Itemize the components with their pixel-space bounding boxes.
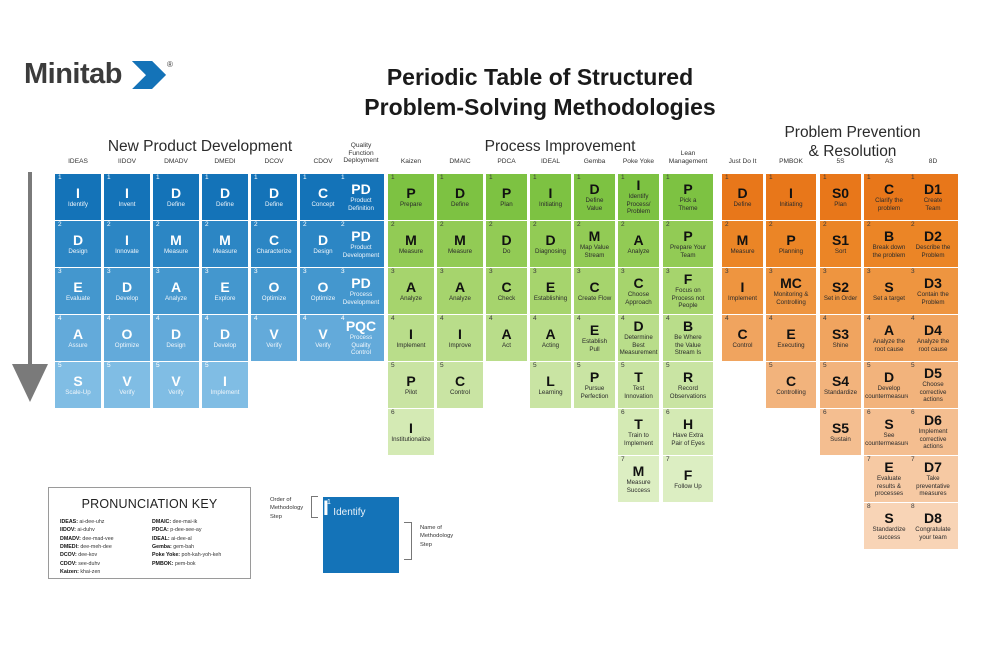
page-title-line2: Problem-Solving Methodologies [250, 92, 830, 122]
cell-symbol: I [458, 327, 462, 341]
pronunciation-entry-right-4: Poke Yoke: poh-kah-yoh-keh [152, 551, 244, 559]
cell-DMEDI-2[interactable]: 2MMeasure [202, 221, 248, 267]
cell-step-name: Initiating [539, 201, 562, 209]
cell-DMAIC-3[interactable]: 3AAnalyze [437, 268, 483, 314]
cell-8D-3[interactable]: 3D3Contain theProblem [908, 268, 958, 314]
cell-step-name: Define [265, 201, 283, 209]
cell-8D-8[interactable]: 8D8Congratulateyour team [908, 503, 958, 549]
cell-step-name: Analyze [165, 295, 187, 303]
cell-step-name: DetermineBestMeasurement [620, 334, 658, 357]
cell-step-name: Implement [728, 295, 757, 303]
cell-symbol: E [73, 280, 82, 294]
cell-PDCA-4[interactable]: 4AAct [486, 315, 527, 361]
cell-DCOV-4[interactable]: 4VVerify [251, 315, 297, 361]
cell-step-name: Contain theProblem [917, 291, 949, 306]
cell-DMAIC-1[interactable]: 1DDefine [437, 174, 483, 220]
cell-PMBOK-2[interactable]: 2PPlanning [766, 221, 816, 267]
cell-symbol: D [501, 233, 511, 247]
cell-step-name: Shine [833, 342, 849, 350]
cell-IDEAL-2[interactable]: 2DDiagnosing [530, 221, 571, 267]
cell-IDEAS-4[interactable]: 4AAssure [55, 315, 101, 361]
cell-symbol: M [633, 464, 645, 478]
cell-DMADV-2[interactable]: 2MMeasure [153, 221, 199, 267]
cell-step-name: Initiating [779, 201, 802, 209]
minitab-logo: Minitab ® [24, 58, 173, 91]
cell-PokeYoke-4[interactable]: 4DDetermineBestMeasurement [618, 315, 659, 361]
cell-symbol: D [73, 233, 83, 247]
cell-step-name: Explore [215, 295, 236, 303]
pronunciation-entry-right-5: PMBOK: pem-bok [152, 560, 244, 568]
cell-JustDoIt-3[interactable]: 3IImplement [722, 268, 763, 314]
cell-symbol: E [220, 280, 229, 294]
cell-symbol: P [502, 186, 511, 200]
cell-step-name: Establishing [534, 295, 567, 303]
cell-Kaizen-1[interactable]: 1PPrepare [388, 174, 434, 220]
cell-step-name: Design [313, 248, 332, 256]
cell-symbol: M [219, 233, 231, 247]
cell-step-name: Set a target [873, 295, 905, 303]
column-label-line: 8D [900, 158, 966, 166]
pronunciation-term: Poke Yoke: [152, 552, 180, 558]
cell-LeanManagement-6[interactable]: 6HHave ExtraPair of Eyes [663, 409, 713, 455]
cell-LeanManagement-3[interactable]: 3FFocus onProcess notPeople [663, 268, 713, 314]
cell-symbol: PD [351, 182, 370, 196]
cell-symbol: E [884, 460, 893, 474]
cell-symbol: M [589, 229, 601, 243]
cell-step-name: Focus onProcess notPeople [672, 287, 705, 310]
legend-cell-number: 1 [327, 499, 331, 506]
column-label-line: Lean [655, 150, 721, 158]
pronunciation-term: IDEAS: [60, 519, 78, 525]
cell-Kaizen-5[interactable]: 5PPilot [388, 362, 434, 408]
pronunciation-key-panel: PRONUNCIATION KEY IDEAS: ai-dee-uhzIIDOV… [48, 487, 251, 579]
cell-symbol: I [409, 327, 413, 341]
cell-Kaizen-6[interactable]: 6IInstitutionalize [388, 409, 434, 455]
cell-symbol: S [73, 374, 82, 388]
cell-symbol: F [684, 468, 693, 482]
brand-name: Minitab [24, 58, 122, 91]
cell-symbol: PQC [346, 319, 376, 333]
cell-8D-5[interactable]: 5D5Choosecorrective actions [908, 362, 958, 408]
cell-step-name: Improve [449, 342, 471, 350]
cell-PokeYoke-7[interactable]: 7MMeasureSuccess [618, 456, 659, 502]
cell-symbol: M [170, 233, 182, 247]
cell-DCOV-1[interactable]: 1DDefine [251, 174, 297, 220]
pronunciation-entry-right-1: PDCA: p-dee-see-ay [152, 526, 244, 534]
cell-symbol: D4 [924, 323, 942, 337]
cell-step-name: CreateTeam [924, 197, 943, 212]
cell-step-name: Measure [448, 248, 472, 256]
pronunciation-term: DMEDI: [60, 544, 79, 550]
cell-step-name: Develop [116, 295, 139, 303]
cell-DCOV-3[interactable]: 3OOptimize [251, 268, 297, 314]
cell-step-name: Break downthe problem [873, 244, 906, 259]
cell-symbol: PD [351, 229, 370, 243]
cell-A3-2[interactable]: 2BBreak downthe problem [864, 221, 914, 267]
cell-step-name: Verify [119, 389, 134, 397]
cell-LeanManagement-1[interactable]: 1PPick aTheme [663, 174, 713, 220]
cell-PDCA-2[interactable]: 2DDo [486, 221, 527, 267]
cell-A3-8[interactable]: 8SStandardizesuccess [864, 503, 914, 549]
cell-8D-6[interactable]: 6D6Implementcorrective actions [908, 409, 958, 455]
cell-step-name: Controlling [776, 389, 806, 397]
cell-symbol: S [884, 280, 893, 294]
cell-PMBOK-4[interactable]: 4EExecuting [766, 315, 816, 361]
cell-step-name: Develop [214, 342, 237, 350]
cell-step-name: Verify [266, 342, 281, 350]
cell-DMEDI-5[interactable]: 5IImplement [202, 362, 248, 408]
cell-5S-2[interactable]: 2S1Sort [820, 221, 861, 267]
cell-DMADV-3[interactable]: 3AAnalyze [153, 268, 199, 314]
cell-symbol: C [318, 186, 328, 200]
cell-symbol: PD [351, 276, 370, 290]
cell-DMEDI-4[interactable]: 4DDevelop [202, 315, 248, 361]
pronunciation-entry-right-2: IDEAL: ai-dee-al [152, 535, 244, 543]
pronunciation-entry-right-0: DMAIC: dee-mai-ik [152, 518, 244, 526]
cell-IDEAS-3[interactable]: 3EEvaluate [55, 268, 101, 314]
cell-symbol: V [269, 327, 278, 341]
pronunciation-term: PMBOK: [152, 561, 173, 567]
cell-IDEAL-3[interactable]: 3EEstablishing [530, 268, 571, 314]
cell-step-name: Choosecorrective actions [910, 381, 956, 404]
cell-PokeYoke-6[interactable]: 6TTrain toImplement [618, 409, 659, 455]
pronunciation-entry-left-6: Kaizen: khai-zen [60, 568, 152, 576]
cell-PMBOK-1[interactable]: 1IInitiating [766, 174, 816, 220]
cell-JustDoIt-4[interactable]: 4CControl [722, 315, 763, 361]
cell-Kaizen-2[interactable]: 2MMeasure [388, 221, 434, 267]
cell-8D-1[interactable]: 1D1CreateTeam [908, 174, 958, 220]
cell-step-name: Control [450, 389, 470, 397]
cell-DMEDI-1[interactable]: 1DDefine [202, 174, 248, 220]
cell-Gemba-2[interactable]: 2MMap ValueStream [574, 221, 615, 267]
section-header-npd: New Product Development [40, 137, 360, 156]
cell-step-name: Analyze theroot cause [917, 338, 949, 353]
cell-DMADV-1[interactable]: 1DDefine [153, 174, 199, 220]
cell-step-name: Standardizesuccess [872, 526, 905, 541]
periodic-table-poster: Minitab ® Periodic Table of Structured P… [0, 0, 985, 656]
cell-symbol: A [633, 233, 643, 247]
cell-step-name: Seecountermeasures [865, 432, 913, 447]
cell-step-name: IdentifyProcess/Problem [626, 193, 650, 216]
cell-step-name: Check [498, 295, 516, 303]
cell-symbol: B [683, 319, 693, 333]
cell-step-name: Do [503, 248, 511, 256]
legend-left-bracket [311, 496, 318, 518]
cell-symbol: C [737, 327, 747, 341]
cell-IIDOV-1[interactable]: 1IInvent [104, 174, 150, 220]
cell-symbol: T [634, 417, 643, 431]
cell-5S-5[interactable]: 5S4Standardize [820, 362, 861, 408]
cell-step-name: Follow Up [674, 483, 702, 491]
cell-JustDoIt-1[interactable]: 1DDefine [722, 174, 763, 220]
cell-step-name: Sort [835, 248, 846, 256]
cell-IDEAS-5[interactable]: 5SScale-Up [55, 362, 101, 408]
cell-step-name: Map ValueStream [580, 244, 609, 259]
cell-symbol: B [884, 229, 894, 243]
cell-symbol: D [122, 280, 132, 294]
cell-A3-3[interactable]: 3SSet a target [864, 268, 914, 314]
cell-symbol: D2 [924, 229, 942, 243]
cell-QFD-4[interactable]: 4PQCProcessQualityControl [338, 315, 384, 361]
pronunciation-term: DMAIC: [152, 519, 171, 525]
pronunciation-term: IDEAL: [152, 536, 170, 542]
cell-step-name: ProductDefinition [348, 197, 374, 212]
cell-symbol: L [546, 374, 555, 388]
pronunciation-entry-left-2: DMADV: dee-mad-vee [60, 535, 152, 543]
cell-step-name: RecordObservations [670, 385, 706, 400]
cell-symbol: MC [780, 276, 802, 290]
cell-LeanManagement-4[interactable]: 4BBe Wherethe ValueStream Is [663, 315, 713, 361]
cell-IDEAS-1[interactable]: 1IIdentify [55, 174, 101, 220]
cell-Kaizen-4[interactable]: 4IImplement [388, 315, 434, 361]
cell-step-name: ProcessQualityControl [350, 334, 372, 357]
cell-step-name: Define [451, 201, 469, 209]
cell-step-name: Optimize [311, 295, 335, 303]
cell-step-name: Measure [213, 248, 237, 256]
cell-step-name: Verify [168, 389, 183, 397]
cell-PokeYoke-5[interactable]: 5TTestInnovation [618, 362, 659, 408]
cell-IDEAL-4[interactable]: 4AActing [530, 315, 571, 361]
cell-step-name: Scale-Up [65, 389, 90, 397]
cell-symbol: A [406, 280, 416, 294]
cell-PMBOK-3[interactable]: 3MCMonitoring &Controlling [766, 268, 816, 314]
cell-step-name: Learning [538, 389, 562, 397]
cell-symbol: A [171, 280, 181, 294]
cell-step-name: Verify [315, 342, 330, 350]
pronunciation-entry-left-1: IIDOV: ai-duhv [60, 526, 152, 534]
cell-symbol: O [318, 280, 329, 294]
cell-PokeYoke-1[interactable]: 1IIdentifyProcess/Problem [618, 174, 659, 220]
cell-A3-1[interactable]: 1CClarify theproblem [864, 174, 914, 220]
cell-PDCA-3[interactable]: 3CCheck [486, 268, 527, 314]
pronunciation-term: IIDOV: [60, 527, 76, 533]
cell-PDCA-1[interactable]: 1PPlan [486, 174, 527, 220]
cell-step-name: Establish Pull [576, 338, 613, 353]
cell-step-name: Analyze theroot cause [873, 338, 905, 353]
cell-symbol: I [409, 421, 413, 435]
cell-step-name: Institutionalize [391, 436, 430, 444]
cell-LeanManagement-2[interactable]: 2PPrepare YourTeam [663, 221, 713, 267]
cell-IIDOV-2[interactable]: 2IInnovate [104, 221, 150, 267]
cell-symbol: D [455, 186, 465, 200]
cell-symbol: A [501, 327, 511, 341]
pronunciation-term: DMADV: [60, 536, 81, 542]
cell-symbol: F [684, 272, 693, 286]
column-label-LeanManagement: LeanManagement [655, 150, 721, 165]
cell-QFD-1[interactable]: 1PDProductDefinition [338, 174, 384, 220]
cell-symbol: R [683, 370, 693, 384]
cell-Gemba-4[interactable]: 4EEstablish Pull [574, 315, 615, 361]
cell-step-name: Be Wherethe ValueStream Is [674, 334, 702, 357]
cell-step-name: Define [216, 201, 234, 209]
cell-5S-3[interactable]: 3S2Set in Order [820, 268, 861, 314]
cell-step-name: Set in Order [824, 295, 857, 303]
cell-symbol: V [171, 374, 180, 388]
cell-step-name: Design [166, 342, 185, 350]
cell-step-name: Analyze [627, 248, 649, 256]
cell-symbol: S4 [832, 374, 849, 388]
cell-symbol: I [125, 233, 129, 247]
cell-symbol: D [633, 319, 643, 333]
cell-QFD-3[interactable]: 3PDProcessDevelopment [338, 268, 384, 314]
cell-symbol: I [549, 186, 553, 200]
cell-step-name: Define [167, 201, 185, 209]
cell-step-name: DefineValue [586, 197, 604, 212]
cell-step-name: Describe theProblem [916, 244, 951, 259]
cell-step-name: Analyze [449, 295, 471, 303]
cell-step-name: Implement [397, 342, 426, 350]
cell-symbol: D [171, 327, 181, 341]
cell-symbol: I [741, 280, 745, 294]
cell-IIDOV-3[interactable]: 3DDevelop [104, 268, 150, 314]
cell-PokeYoke-3[interactable]: 3CChooseApproach [618, 268, 659, 314]
cell-symbol: E [590, 323, 599, 337]
cell-step-name: Plan [500, 201, 512, 209]
cell-symbol: M [405, 233, 417, 247]
cell-step-name: Design [68, 248, 87, 256]
cell-LeanManagement-7[interactable]: 7FFollow Up [663, 456, 713, 502]
cell-step-name: Planning [779, 248, 803, 256]
cell-QFD-2[interactable]: 2PDProductDevelopment [338, 221, 384, 267]
cell-step-name: Developcountermeasures [865, 385, 913, 400]
cell-symbol: D6 [924, 413, 942, 427]
cell-step-name: Act [502, 342, 511, 350]
cell-PokeYoke-2[interactable]: 2AAnalyze [618, 221, 659, 267]
cell-step-name: Diagnosing [535, 248, 566, 256]
cell-step-name: Measure [730, 248, 754, 256]
cell-symbol: D [269, 186, 279, 200]
cell-DMAIC-4[interactable]: 4IImprove [437, 315, 483, 361]
cell-IIDOV-5[interactable]: 5VVerify [104, 362, 150, 408]
cell-step-name: Create Flow [578, 295, 611, 303]
cell-step-name: Sustain [830, 436, 851, 444]
pronunciation-left-column: IDEAS: ai-dee-uhzIIDOV: ai-duhvDMADV: de… [60, 518, 152, 577]
cell-symbol: V [122, 374, 131, 388]
column-label-8D: 8D [900, 158, 966, 166]
cell-symbol: P [786, 233, 795, 247]
cell-step-name: PursuePerfection [581, 385, 609, 400]
cell-DMAIC-2[interactable]: 2MMeasure [437, 221, 483, 267]
legend-name-label: Name ofMethodologyStep [420, 524, 475, 549]
cell-step-name: Implement [211, 389, 240, 397]
cell-Gemba-1[interactable]: 1DDefineValue [574, 174, 615, 220]
cell-symbol: C [884, 182, 894, 196]
cell-step-name: Standardize [824, 389, 857, 397]
cell-A3-4[interactable]: 4AAnalyze theroot cause [864, 315, 914, 361]
pronunciation-term: PDCA: [152, 527, 169, 533]
column-label-line: Quality [330, 142, 392, 150]
cell-symbol: C [589, 280, 599, 294]
cell-DMADV-5[interactable]: 5VVerify [153, 362, 199, 408]
pronunciation-right-column: DMAIC: dee-mai-ikPDCA: p-dee-see-ayIDEAL… [152, 518, 244, 577]
cell-step-name: Takepreventativemeasures [916, 475, 950, 498]
cell-step-name: Monitoring &Controlling [774, 291, 809, 306]
pronunciation-term: Kaizen: [60, 569, 79, 575]
cell-symbol: I [76, 186, 80, 200]
cell-symbol: I [789, 186, 793, 200]
cell-step-name: Characterize [256, 248, 291, 256]
cell-DCOV-2[interactable]: 2CCharacterize [251, 221, 297, 267]
cell-step-name: ChooseApproach [625, 291, 652, 306]
cell-5S-6[interactable]: 6S5Sustain [820, 409, 861, 455]
cell-symbol: D [220, 186, 230, 200]
cell-Gemba-3[interactable]: 3CCreate Flow [574, 268, 615, 314]
cell-step-name: Innovate [115, 248, 139, 256]
cell-symbol: O [269, 280, 280, 294]
column-label-line: Management [655, 158, 721, 166]
cell-symbol: C [633, 276, 643, 290]
cell-A3-5[interactable]: 5DDevelopcountermeasures [864, 362, 914, 408]
cell-8D-7[interactable]: 7D7Takepreventativemeasures [908, 456, 958, 502]
cell-IIDOV-4[interactable]: 4OOptimize [104, 315, 150, 361]
pronunciation-term: Gemba: [152, 544, 172, 550]
cell-symbol: M [737, 233, 749, 247]
cell-JustDoIt-2[interactable]: 2MMeasure [722, 221, 763, 267]
cell-step-name: Evaluateresults &processes [875, 475, 903, 498]
cell-IDEAS-2[interactable]: 2DDesign [55, 221, 101, 267]
cell-symbol: D8 [924, 511, 942, 525]
cell-Kaizen-3[interactable]: 3AAnalyze [388, 268, 434, 314]
cell-symbol: O [122, 327, 133, 341]
cell-symbol: D [884, 370, 894, 384]
cell-symbol: D [545, 233, 555, 247]
cell-step-name: Plan [834, 201, 846, 209]
cell-symbol: S [884, 511, 893, 525]
cell-symbol: A [73, 327, 83, 341]
cell-A3-7[interactable]: 7EEvaluateresults &processes [864, 456, 914, 502]
cell-symbol: D [318, 233, 328, 247]
cell-step-name: Control [733, 342, 753, 350]
cell-symbol: C [501, 280, 511, 294]
cell-step-name: Define [734, 201, 752, 209]
cell-5S-4[interactable]: 4S3Shine [820, 315, 861, 361]
cell-5S-1[interactable]: 1S0Plan [820, 174, 861, 220]
cell-symbol: I [223, 374, 227, 388]
cell-LeanManagement-5[interactable]: 5RRecordObservations [663, 362, 713, 408]
cell-step-name: Pick aTheme [678, 197, 697, 212]
cell-symbol: D [737, 186, 747, 200]
cell-DMEDI-3[interactable]: 3EExplore [202, 268, 248, 314]
section-header-line: Problem Prevention [735, 123, 970, 142]
cell-Gemba-5[interactable]: 5PPursuePerfection [574, 362, 615, 408]
cell-step-name: Implementcorrective actions [910, 428, 956, 451]
cell-symbol: C [269, 233, 279, 247]
cell-8D-2[interactable]: 2D2Describe theProblem [908, 221, 958, 267]
cell-symbol: A [455, 280, 465, 294]
cell-step-name: Pilot [405, 389, 417, 397]
cell-symbol: S1 [832, 233, 849, 247]
cell-symbol: D1 [924, 182, 942, 196]
cell-step-name: Identify [68, 201, 88, 209]
cell-step-name: Evaluate [66, 295, 90, 303]
cell-symbol: E [786, 327, 795, 341]
pronunciation-key-title: PRONUNCIATION KEY [49, 497, 250, 511]
page-title-line1: Periodic Table of Structured [250, 62, 830, 92]
cell-IDEAL-5[interactable]: 5LLearning [530, 362, 571, 408]
cell-step-name: Invent [119, 201, 136, 209]
cell-symbol: C [786, 374, 796, 388]
legend-right-bracket [404, 522, 412, 560]
cell-DMADV-4[interactable]: 4DDesign [153, 315, 199, 361]
cell-IDEAL-1[interactable]: 1IInitiating [530, 174, 571, 220]
cell-A3-6[interactable]: 6SSeecountermeasures [864, 409, 914, 455]
cell-PMBOK-5[interactable]: 5CControlling [766, 362, 816, 408]
cell-8D-4[interactable]: 4D4Analyze theroot cause [908, 315, 958, 361]
cell-step-name: Assure [68, 342, 87, 350]
cell-step-name: Concept [311, 201, 334, 209]
cell-DMAIC-5[interactable]: 5CControl [437, 362, 483, 408]
cell-step-name: Train toImplement [624, 432, 653, 447]
